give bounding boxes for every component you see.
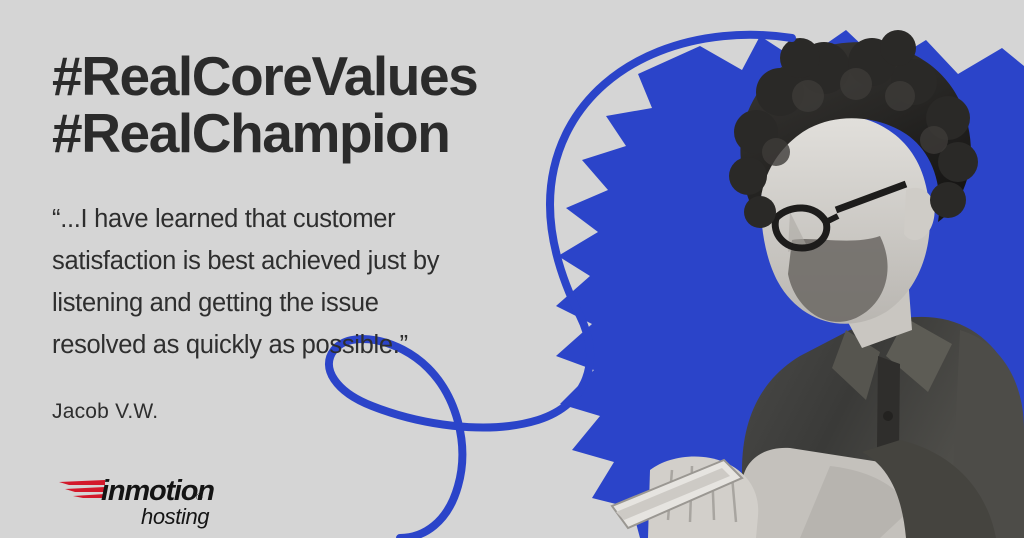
headline-line-2: #RealChampion (52, 105, 552, 162)
quote-attribution: Jacob V.W. (52, 400, 552, 424)
red-speed-lines-icon (59, 480, 105, 498)
testimonial-quote: “...I have learned that customer satisfa… (52, 198, 472, 366)
page-title: #RealCoreValues #RealChampion (52, 48, 552, 162)
logo-wordmark: inmotion (101, 475, 214, 507)
logo-trademark: ® (196, 492, 203, 502)
headline-line-1: #RealCoreValues (52, 48, 552, 105)
promo-banner: #RealCoreValues #RealChampion “...I have… (0, 0, 1024, 538)
logo-tagline: hosting (141, 504, 210, 529)
text-block: #RealCoreValues #RealChampion “...I have… (52, 48, 552, 424)
inmotion-hosting-logo: inmotion ® hosting (57, 468, 217, 530)
